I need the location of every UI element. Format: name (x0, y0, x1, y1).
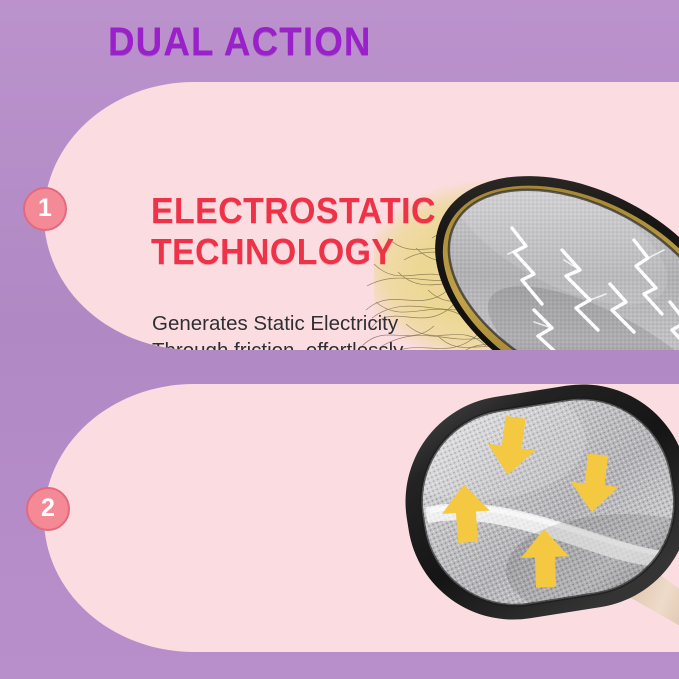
infographic-canvas: DUAL ACTION (0, 0, 679, 679)
feature-2-image (44, 384, 679, 652)
pad-lint-brush-icon (396, 384, 679, 652)
step-badge-1: 1 (23, 187, 67, 231)
page-title: DUAL ACTION (108, 20, 372, 65)
feature-1-heading: ELECTROSTATIC TECHNOLOGY (151, 190, 436, 272)
feature-card-1: ELECTROSTATIC TECHNOLOGY Generates Stati… (44, 82, 679, 350)
feature-1-body: Generates Static Electricity Through fri… (152, 311, 447, 350)
direction-arrows (440, 414, 622, 588)
feature-card-2: DUAL DIRECTIONAL BRUSHES Rubbing back an… (44, 384, 679, 652)
oval-lint-brush-icon (434, 142, 679, 350)
step-badge-2: 2 (26, 487, 70, 531)
brush-handle (624, 556, 679, 652)
